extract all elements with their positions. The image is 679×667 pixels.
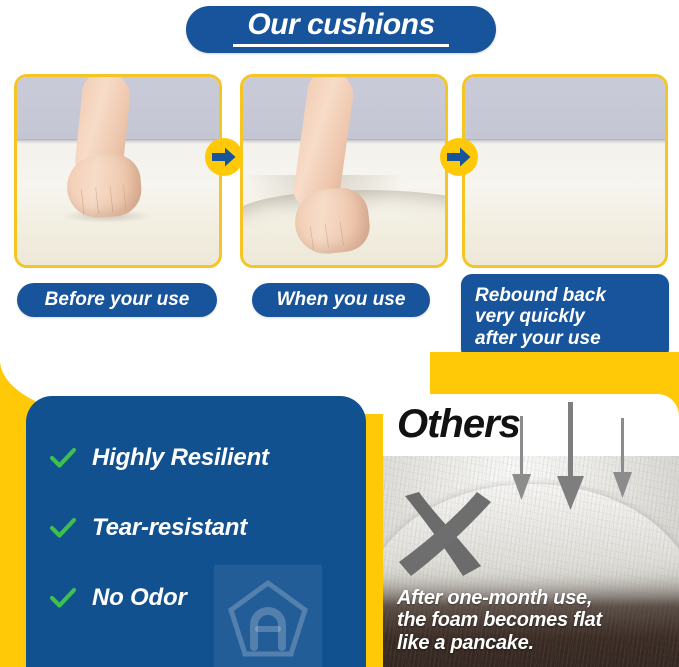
caption-before-label: Before your use [45,289,190,311]
others-comparison-card: Others After one-month use, the foam bec… [383,394,679,667]
right-arrow-icon [212,147,236,167]
ours-feature-card: Highly Resilient Tear-resistant No Odor [26,396,366,667]
others-title: Others [397,402,520,447]
caption-during-label: When you use [277,289,406,311]
ours-feature-list: Highly Resilient Tear-resistant No Odor [50,440,269,650]
title-underline [233,44,449,47]
caption-after: Rebound back very quickly after your use [461,274,669,360]
caption-during: When you use [252,283,430,317]
right-arrow-badge-1 [205,138,243,176]
others-caption-line-2: the foam becomes flat [397,609,669,632]
check-icon [50,517,76,539]
others-caption: After one-month use, the foam becomes fl… [397,587,669,655]
down-arrow-icon [557,402,584,510]
foam-photo-before [17,77,219,265]
caption-after-line-3: after your use [475,328,601,349]
infographic-page: Our cushions [0,0,679,667]
feature-item: Tear-resistant [50,510,269,546]
others-caption-line-3: like a pancake. [397,632,669,655]
feature-item: Highly Resilient [50,440,269,476]
step-photo-during [240,74,448,268]
foam-photo-after [465,77,665,265]
step-photo-before [14,74,222,268]
feature-label: Tear-resistant [92,514,247,542]
foam-photo-during [243,77,445,265]
x-cross-icon [395,490,503,586]
step-photo-after [462,74,668,268]
down-arrow-icon [613,418,632,498]
feature-item: No Odor [50,580,269,616]
check-icon [50,587,76,609]
page-title-banner: Our cushions [186,6,496,53]
pressure-arrows-group [495,400,665,512]
right-arrow-icon [447,147,471,167]
feature-label: Highly Resilient [92,444,269,472]
caption-after-line-1: Rebound back [475,285,606,306]
caption-after-line-2: very quickly [475,306,585,327]
right-arrow-badge-2 [440,138,478,176]
page-title: Our cushions [247,10,434,40]
check-icon [50,447,76,469]
feature-label: No Odor [92,584,187,612]
others-caption-line-1: After one-month use, [397,587,669,610]
caption-before: Before your use [17,283,217,317]
